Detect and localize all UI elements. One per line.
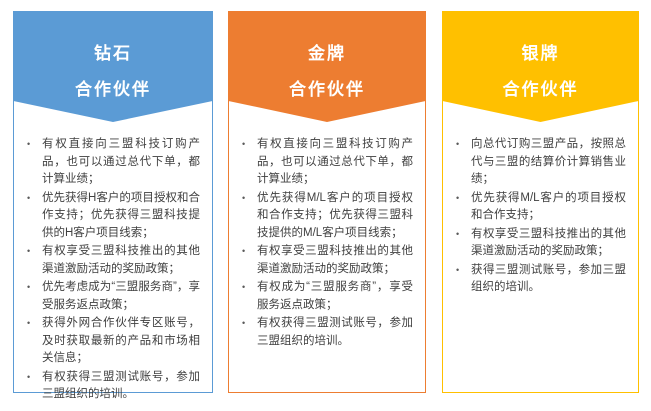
list-item: 有权享受三盟科技推出的其他渠道激励活动的奖励政策； (24, 243, 200, 278)
partner-card-gold: 金牌 合作伙伴 有权直接向三盟科技订购产品，也可以通过总代下单，都计算业绩； 优… (228, 11, 426, 393)
list-item: 优先获得M/L客户的项目授权和合作支持； (453, 190, 626, 225)
list-item: 有权获得三盟测试账号，参加三盟组织的培训。 (24, 369, 200, 404)
list-item: 有权获得三盟测试账号，参加三盟组织的培训。 (239, 315, 413, 350)
card-body-gold: 有权直接向三盟科技订购产品，也可以通过总代下单，都计算业绩； 优先获得M/L客户… (229, 124, 425, 357)
list-item: 优先获得H客户的项目授权和合作支持；优先获得三盟科技提供的H客户项目线索； (24, 190, 200, 243)
list-item: 有权享受三盟科技推出的其他渠道激励活动的奖励政策； (239, 243, 413, 278)
list-item: 优先获得M/L客户的项目授权和合作支持；优先获得三盟科技提供的M/L客户项目线索… (239, 190, 413, 243)
list-item: 有权直接向三盟科技订购产品，也可以通过总代下单，都计算业绩； (239, 136, 413, 189)
card-body-silver: 向总代订购三盟产品，按照总代与三盟的结算价计算销售业绩； 优先获得M/L客户的项… (443, 124, 638, 304)
list-item: 获得外网合作伙伴专区账号，及时获取最新的产品和市场相关信息； (24, 315, 200, 368)
list-item: 有权直接向三盟科技订购产品，也可以通过总代下单，都计算业绩； (24, 136, 200, 189)
list-item: 优先考虑成为“三盟服务商”，享受服务返点政策； (24, 279, 200, 314)
card-title: 金牌 (308, 45, 346, 62)
card-subtitle: 合作伙伴 (289, 81, 365, 98)
card-header-gold: 金牌 合作伙伴 (229, 12, 425, 122)
card-subtitle: 合作伙伴 (503, 81, 579, 98)
list-item: 获得三盟测试账号，参加三盟组织的培训。 (453, 262, 626, 297)
card-body-diamond: 有权直接向三盟科技订购产品，也可以通过总代下单，都计算业绩； 优先获得H客户的项… (14, 124, 212, 411)
benefit-list: 有权直接向三盟科技订购产品，也可以通过总代下单，都计算业绩； 优先获得M/L客户… (239, 136, 413, 350)
partner-card-silver: 银牌 合作伙伴 向总代订购三盟产品，按照总代与三盟的结算价计算销售业绩； 优先获… (442, 11, 639, 393)
partner-tier-board: 钻石 合作伙伴 有权直接向三盟科技订购产品，也可以通过总代下单，都计算业绩； 优… (0, 0, 651, 402)
card-title: 银牌 (522, 45, 560, 62)
list-item: 有权成为“三盟服务商”，享受服务返点政策； (239, 279, 413, 314)
benefit-list: 有权直接向三盟科技订购产品，也可以通过总代下单，都计算业绩； 优先获得H客户的项… (24, 136, 200, 404)
card-header-silver: 银牌 合作伙伴 (443, 12, 638, 122)
benefit-list: 向总代订购三盟产品，按照总代与三盟的结算价计算销售业绩； 优先获得M/L客户的项… (453, 136, 626, 297)
list-item: 向总代订购三盟产品，按照总代与三盟的结算价计算销售业绩； (453, 136, 626, 189)
card-subtitle: 合作伙伴 (75, 81, 151, 98)
list-item: 有权享受三盟科技推出的其他渠道激励活动的奖励政策； (453, 226, 626, 261)
partner-card-diamond: 钻石 合作伙伴 有权直接向三盟科技订购产品，也可以通过总代下单，都计算业绩； 优… (13, 11, 213, 393)
card-header-diamond: 钻石 合作伙伴 (14, 12, 212, 122)
card-title: 钻石 (94, 45, 132, 62)
